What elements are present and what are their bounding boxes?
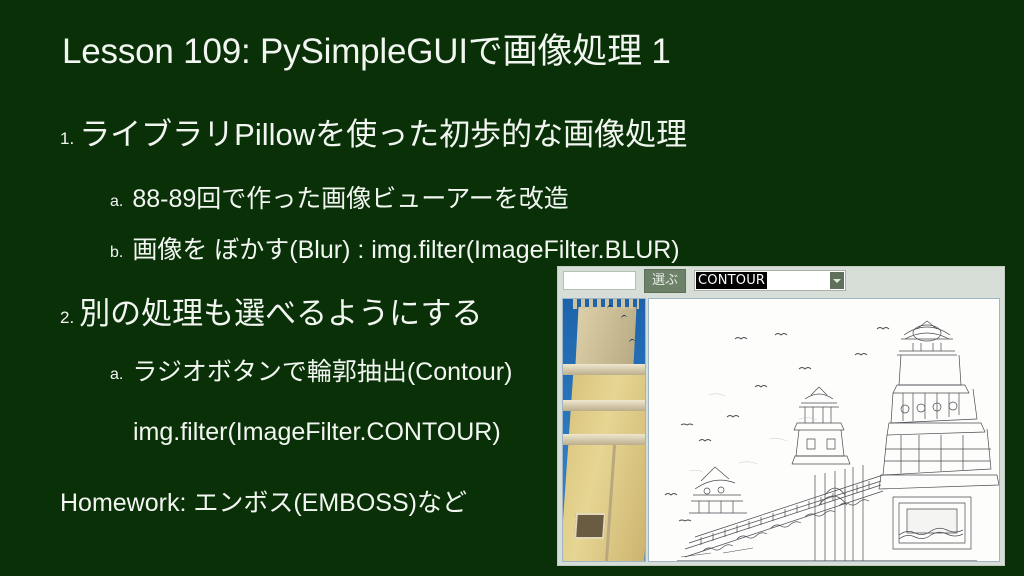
bullet-text: 88-89回で作った画像ビューアーを改造 — [132, 185, 568, 213]
bullet-item-1b: b.画像を ぼかす(Blur) : img.filter(ImageFilter… — [110, 237, 680, 265]
filter-combobox-value: CONTOUR — [696, 272, 767, 289]
pysimplegui-app-window: 選ぶ CONTOUR — [558, 267, 1004, 565]
chevron-down-icon[interactable] — [830, 272, 844, 289]
contour-line-drawing — [649, 299, 1000, 562]
bullet-marker: 1. — [60, 129, 74, 148]
photo-balustrade — [573, 298, 639, 309]
bullet-item-1a: a.88-89回で作った画像ビューアーを改造 — [110, 186, 569, 214]
page-title: Lesson 109: PySimpleGUIで画像処理 1 — [62, 33, 671, 72]
filter-combobox[interactable]: CONTOUR — [694, 270, 846, 291]
filtered-image-panel — [648, 298, 1000, 562]
bullet-marker: a. — [110, 193, 123, 210]
choose-file-button[interactable]: 選ぶ — [644, 269, 686, 293]
photo-cornice — [562, 400, 646, 411]
bullet-item-1: 1.ライブラリPillowを使った初歩的な画像処理 — [60, 118, 687, 152]
bullet-text: 画像を ぼかす(Blur) : img.filter(ImageFilter.B… — [132, 236, 679, 264]
homework-line: Homework: エンボス(EMBOSS)など — [60, 483, 467, 519]
app-toolbar: 選ぶ CONTOUR — [558, 267, 1004, 296]
bullet-marker: 2. — [60, 308, 74, 327]
photo-cornice — [562, 434, 646, 445]
photo-window — [574, 513, 606, 539]
original-image-panel — [562, 298, 646, 562]
bullet-item-2a: a.ラジオボタンで輪郭抽出(Contour) — [110, 359, 512, 387]
bullet-marker: a. — [110, 366, 123, 383]
file-path-input[interactable] — [563, 271, 636, 290]
bullet-text: img.filter(ImageFilter.CONTOUR) — [133, 418, 501, 446]
presentation-slide: Lesson 109: PySimpleGUIで画像処理 1 1.ライブラリPi… — [0, 0, 1024, 576]
photo-tower-top — [575, 307, 636, 365]
bullet-item-2a-continued: img.filter(ImageFilter.CONTOUR) — [133, 419, 501, 447]
bullet-text: 別の処理も選べるようにする — [79, 296, 482, 331]
bullet-item-2: 2.別の処理も選べるようにする — [60, 297, 483, 331]
bullet-text: ラジオボタンで輪郭抽出(Contour) — [132, 358, 512, 386]
photo-cornice — [562, 364, 646, 375]
bullet-marker: b. — [110, 244, 123, 261]
bullet-text: ライブラリPillowを使った初歩的な画像処理 — [79, 117, 687, 152]
